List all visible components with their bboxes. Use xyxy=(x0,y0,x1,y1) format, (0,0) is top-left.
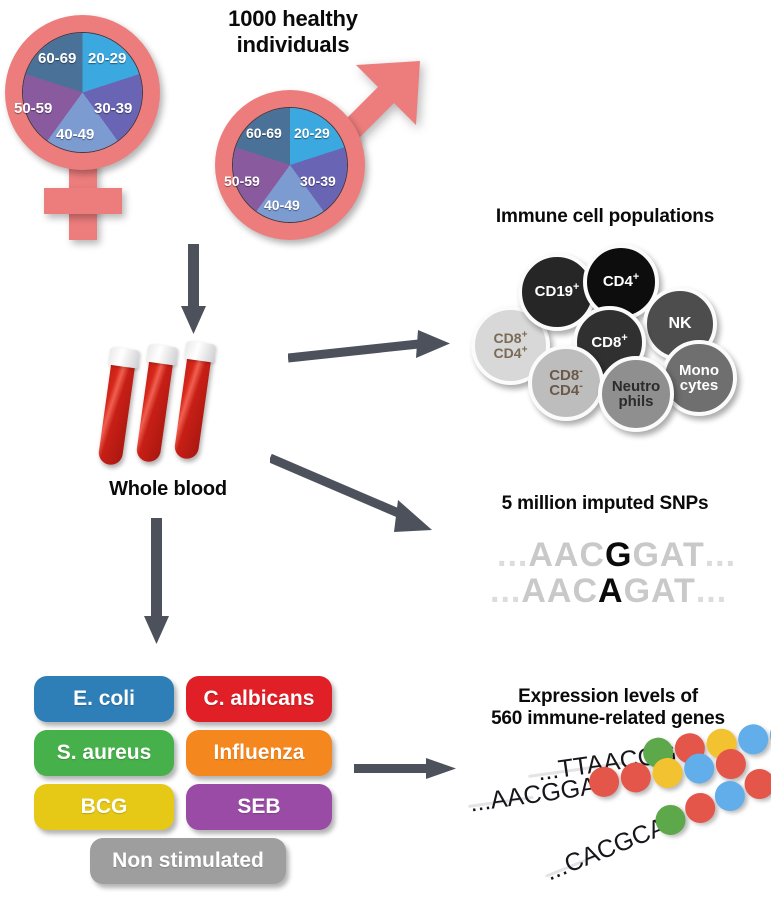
arrow-cohort-to-blood xyxy=(176,244,212,336)
cell-label-cd8-neg-cd4-neg: CD8- CD4- xyxy=(549,368,583,399)
snp-suffix: ... xyxy=(696,572,727,611)
pie-label-60-69: 60-69 xyxy=(38,50,76,67)
cell-label-neutrophils: Neutro phils xyxy=(612,379,660,410)
arrow-blood-to-snps xyxy=(270,452,450,542)
pie-label-40-49: 40-49 xyxy=(56,126,94,143)
cell-label-cd4-pos: CD4+ xyxy=(603,274,639,289)
cell-label-cd8-pos-cd4-pos: CD8+ CD4+ xyxy=(494,331,528,360)
figure-canvas: 1000 healthy individuals 20-29 30-39 40-… xyxy=(0,0,771,922)
expression-heading-line1: Expression levels of xyxy=(452,686,764,708)
pie-label-30-39-male: 30-39 xyxy=(300,173,336,189)
cell-cd8-neg-cd4-neg: CD8- CD4- xyxy=(528,345,604,421)
cell-label-line2: CD4 xyxy=(549,382,579,399)
cell-label-line2: phils xyxy=(618,393,653,410)
cell-label-monocytes: Mono cytes xyxy=(679,363,719,394)
cell-label-text: CD4 xyxy=(603,273,633,290)
snp-allele-row-2: ...AACAGAT... xyxy=(490,572,727,611)
blood-tube-body xyxy=(173,352,212,460)
sup-plus: + xyxy=(573,281,579,293)
stimulus-c-albicans[interactable]: C. albicans xyxy=(186,676,332,722)
sup-plus: + xyxy=(633,271,639,283)
cell-label-text: CD19 xyxy=(535,283,573,300)
snp-allele-row-1: ...AACGGAT... xyxy=(497,536,736,575)
stimulus-e-coli[interactable]: E. coli xyxy=(34,676,174,722)
arrow-blood-to-stimuli xyxy=(139,518,175,646)
sup-plus: + xyxy=(522,344,528,355)
blood-tube-body xyxy=(135,355,174,463)
cell-label-line2: cytes xyxy=(680,377,718,394)
cell-label-cd19-pos: CD19+ xyxy=(535,284,580,299)
sup-minus: - xyxy=(579,365,583,377)
arrow-stimuli-to-expression xyxy=(354,752,464,788)
cell-label-nk: NK xyxy=(668,316,691,332)
immune-cell-heading: Immune cell populations xyxy=(450,206,760,228)
snp-variant-base: A xyxy=(598,572,624,611)
snp-left-bases: AAC xyxy=(528,536,605,575)
snp-variant-base: G xyxy=(605,536,632,575)
cell-label-cd8-pos: CD8+ xyxy=(591,335,627,350)
pie-label-30-39: 30-39 xyxy=(94,100,132,117)
stimulus-bcg[interactable]: BCG xyxy=(34,784,174,830)
female-symbol-stem-cross xyxy=(44,188,122,214)
expression-heading: Expression levels of 560 immune-related … xyxy=(452,686,764,731)
snps-heading: 5 million imputed SNPs xyxy=(450,493,760,515)
snp-prefix: ... xyxy=(497,536,528,575)
sup-plus: + xyxy=(621,332,627,344)
stimulus-non-stimulated[interactable]: Non stimulated xyxy=(90,838,286,884)
pie-label-60-69-male: 60-69 xyxy=(246,125,282,141)
blood-tube-body xyxy=(97,358,136,466)
sup-plus: + xyxy=(522,330,528,341)
cell-label-text: CD8 xyxy=(591,334,621,351)
sup-minus: - xyxy=(579,380,583,392)
pie-label-50-59: 50-59 xyxy=(14,100,52,117)
stimulus-influenza[interactable]: Influenza xyxy=(186,730,332,776)
cell-neutrophils: Neutro phils xyxy=(598,356,674,432)
stimulus-seb[interactable]: SEB xyxy=(186,784,332,830)
stimulus-s-aureus[interactable]: S. aureus xyxy=(34,730,174,776)
arrow-blood-to-immune xyxy=(288,330,458,370)
snp-prefix: ... xyxy=(490,572,521,611)
snp-right-bases: GAT xyxy=(632,536,704,575)
cell-label-line2: CD4 xyxy=(494,345,522,361)
pie-label-20-29-male: 20-29 xyxy=(294,125,330,141)
snp-left-bases: AAC xyxy=(521,572,598,611)
whole-blood-label: Whole blood xyxy=(78,478,258,502)
snp-suffix: ... xyxy=(705,536,736,575)
pie-label-50-59-male: 50-59 xyxy=(224,173,260,189)
pie-label-40-49-male: 40-49 xyxy=(264,197,300,213)
expression-heading-line2: 560 immune-related genes xyxy=(452,708,764,730)
snp-right-bases: GAT xyxy=(624,572,696,611)
pie-label-20-29: 20-29 xyxy=(88,50,126,67)
